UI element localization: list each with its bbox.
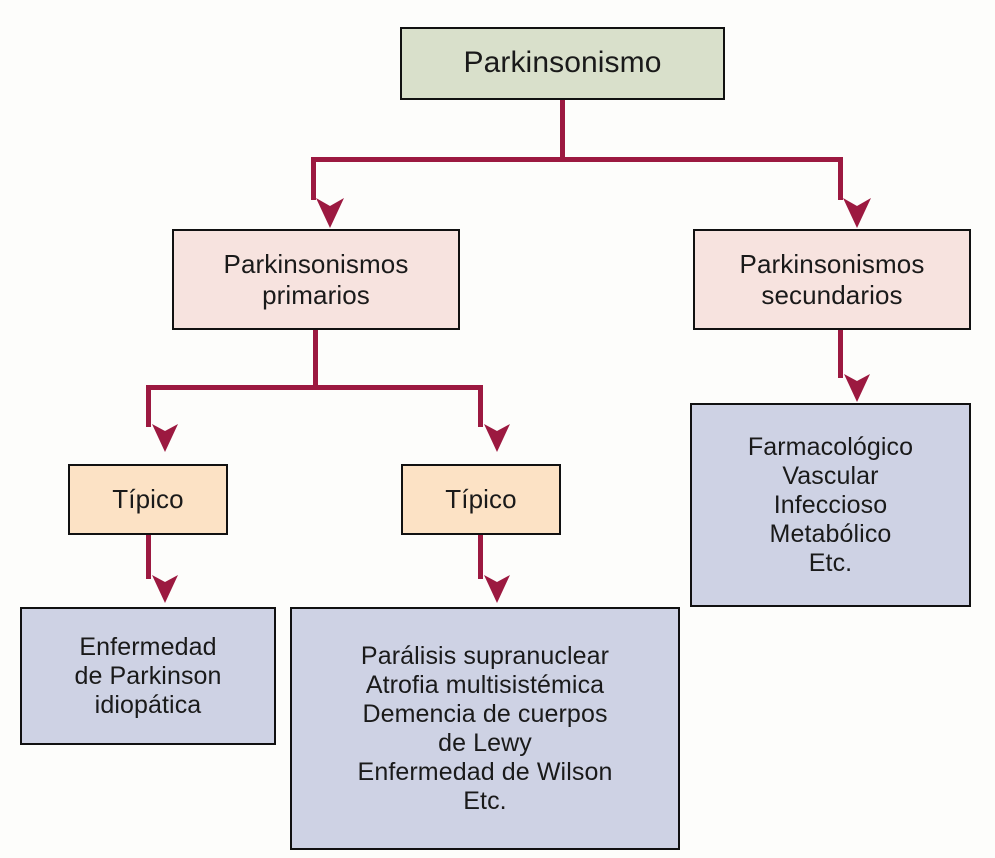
node-secundarios-causas[interactable]: Farmacológico Vascular Infeccioso Metabó… bbox=[690, 403, 971, 607]
node-parkinson-idiopatica[interactable]: Enfermedad de Parkinson idiopática bbox=[20, 607, 276, 745]
node-parkinsonismos-primarios[interactable]: Parkinsonismos primarios bbox=[172, 229, 460, 330]
node-parkinsonismo[interactable]: Parkinsonismo bbox=[400, 27, 725, 100]
edge-tipico-right-stem bbox=[478, 535, 483, 579]
edge-root-bus bbox=[313, 157, 843, 162]
node-parkinsonismos-secundarios[interactable]: Parkinsonismos secundarios bbox=[693, 229, 971, 330]
edge-primarios-bus bbox=[148, 385, 483, 390]
node-tipico-right[interactable]: Típico bbox=[401, 464, 561, 535]
edge-tipico-left-stem bbox=[146, 535, 151, 579]
edge-primarios-to-tipico-left-drop bbox=[146, 385, 151, 427]
edge-primarios-to-tipico-right-drop bbox=[478, 385, 483, 427]
edge-primarios-stem bbox=[313, 330, 318, 388]
edge-secundarios-stem bbox=[838, 330, 843, 378]
edge-root-stem bbox=[560, 100, 565, 160]
edge-root-to-primarios-drop bbox=[311, 157, 316, 200]
diagram-canvas: Parkinsonismo Parkinsonismos primarios P… bbox=[0, 0, 995, 858]
node-tipico-left[interactable]: Típico bbox=[68, 464, 228, 535]
edge-root-to-secundarios-drop bbox=[838, 157, 843, 200]
node-atipicos-lista[interactable]: Parálisis supranuclear Atrofia multisist… bbox=[290, 607, 680, 850]
